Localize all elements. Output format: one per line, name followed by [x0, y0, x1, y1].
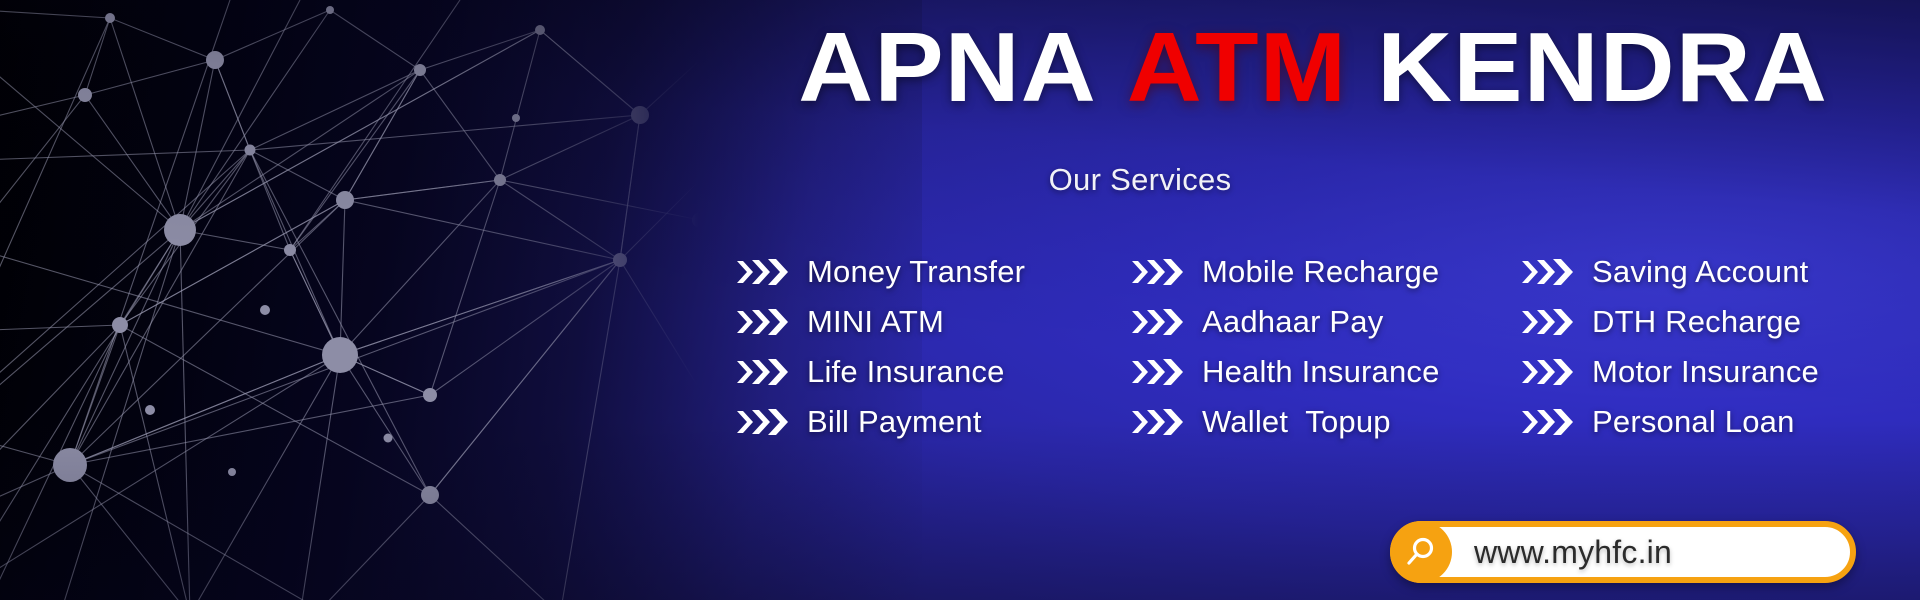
service-label: Life Insurance [807, 354, 1005, 390]
service-item[interactable]: MINI ATM [735, 298, 1130, 345]
service-item[interactable]: Bill Payment [735, 398, 1130, 445]
banner-title: APNA ATM KENDRA [640, 18, 1920, 116]
services-column-3: Saving Account DTH Recharge Motor Insura… [1520, 248, 1905, 448]
title-word-kendra: KENDRA [1377, 18, 1828, 116]
service-item[interactable]: Wallet Topup [1130, 398, 1520, 445]
network-mesh-graphic [0, 0, 700, 600]
service-item[interactable]: Health Insurance [1130, 348, 1520, 395]
website-pill[interactable]: www.myhfc.in [1390, 521, 1856, 583]
triple-chevron-icon [1130, 307, 1184, 337]
service-item[interactable]: DTH Recharge [1520, 298, 1905, 345]
triple-chevron-icon [1520, 257, 1574, 287]
services-subtitle: Our Services [640, 162, 1640, 198]
service-label: Mobile Recharge [1202, 254, 1439, 290]
service-item[interactable]: Personal Loan [1520, 398, 1905, 445]
service-label: Saving Account [1592, 254, 1809, 290]
services-column-2: Mobile Recharge Aadhaar Pay Health Insur… [1130, 248, 1520, 448]
service-item[interactable]: Life Insurance [735, 348, 1130, 395]
promo-banner: APNA ATM KENDRA Our Services Money Trans… [0, 0, 1920, 600]
triple-chevron-icon [1130, 407, 1184, 437]
service-label: Health Insurance [1202, 354, 1440, 390]
service-item[interactable]: Saving Account [1520, 248, 1905, 295]
service-label: Wallet Topup [1202, 404, 1391, 440]
triple-chevron-icon [1520, 407, 1574, 437]
triple-chevron-icon [735, 357, 789, 387]
service-item[interactable]: Mobile Recharge [1130, 248, 1520, 295]
service-item[interactable]: Aadhaar Pay [1130, 298, 1520, 345]
triple-chevron-icon [1520, 307, 1574, 337]
triple-chevron-icon [1520, 357, 1574, 387]
title-word-apna: APNA [798, 18, 1097, 116]
service-label: DTH Recharge [1592, 304, 1801, 340]
triple-chevron-icon [735, 257, 789, 287]
triple-chevron-icon [735, 407, 789, 437]
service-label: Money Transfer [807, 254, 1025, 290]
service-label: Motor Insurance [1592, 354, 1819, 390]
service-label: MINI ATM [807, 304, 944, 340]
triple-chevron-icon [1130, 257, 1184, 287]
services-list: Money Transfer MINI ATM Life Insurance B… [735, 248, 1905, 448]
triple-chevron-icon [1130, 357, 1184, 387]
title-word-atm: ATM [1127, 18, 1347, 116]
service-label: Aadhaar Pay [1202, 304, 1383, 340]
service-item[interactable]: Money Transfer [735, 248, 1130, 295]
services-column-1: Money Transfer MINI ATM Life Insurance B… [735, 248, 1130, 448]
service-item[interactable]: Motor Insurance [1520, 348, 1905, 395]
website-url: www.myhfc.in [1474, 534, 1672, 571]
triple-chevron-icon [735, 307, 789, 337]
search-icon [1390, 521, 1452, 583]
service-label: Personal Loan [1592, 404, 1795, 440]
service-label: Bill Payment [807, 404, 982, 440]
